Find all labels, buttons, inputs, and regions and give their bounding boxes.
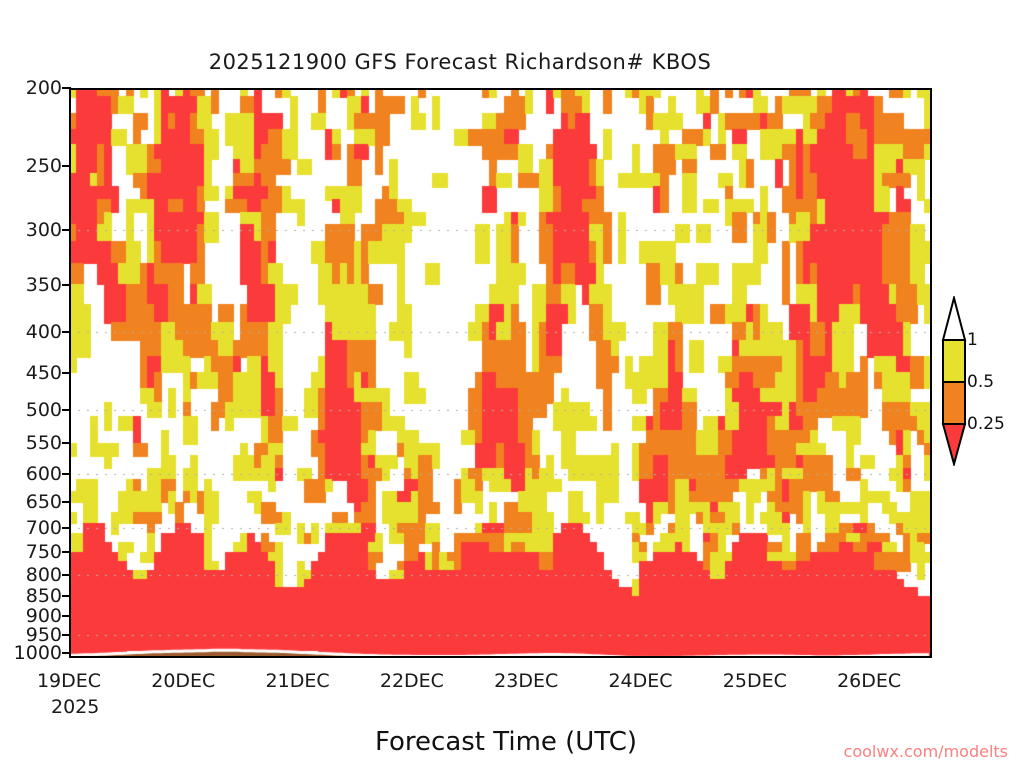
x-axis-labels: 19DEC20DEC21DEC22DEC23DEC24DEC25DEC26DEC… xyxy=(69,664,932,724)
y-axis-label: 600 xyxy=(26,463,62,485)
y-axis-label: 850 xyxy=(26,585,62,607)
colorbar-label-0-5: 0.5 xyxy=(967,372,994,392)
y-axis-label: 350 xyxy=(26,274,62,296)
colorbar-label-0-25: 0.25 xyxy=(967,414,1005,434)
y-axis-label: 500 xyxy=(26,399,62,421)
y-axis-label: 700 xyxy=(26,517,62,539)
plot-area xyxy=(69,88,932,658)
colorbar-arrow-bottom xyxy=(943,424,965,464)
x-axis-year-label: 2025 xyxy=(51,696,99,718)
x-axis-title-text: Forecast Time (UTC) xyxy=(375,727,637,757)
chart-page: 2025121900 GFS Forecast Richardson# KBOS… xyxy=(0,0,1024,768)
colorbar-label-1: 1 xyxy=(967,330,978,350)
colorbar-swatches xyxy=(940,296,970,466)
colorbar: 1 0.5 0.25 xyxy=(940,296,1024,466)
y-axis-label: 300 xyxy=(26,219,62,241)
credit-watermark: coolwx.com/modelts xyxy=(844,742,1008,761)
x-axis-label: 21DEC xyxy=(266,670,330,692)
heatmap-canvas xyxy=(69,88,932,658)
page-title: 2025121900 GFS Forecast Richardson# KBOS xyxy=(0,50,1024,74)
y-axis-label: 550 xyxy=(26,432,62,454)
colorbar-arrow-top xyxy=(943,298,965,340)
y-axis-label: 750 xyxy=(26,541,62,563)
y-axis-label: 800 xyxy=(26,564,62,586)
x-axis-label: 26DEC xyxy=(837,670,901,692)
colorbar-band-yellow xyxy=(943,340,965,382)
colorbar-band-orange xyxy=(943,382,965,424)
y-axis-label: 450 xyxy=(26,362,62,384)
y-axis-labels: 2002503003504004505005506006507007508008… xyxy=(0,88,62,658)
y-axis-label: 250 xyxy=(26,155,62,177)
x-axis-label: 20DEC xyxy=(151,670,215,692)
y-axis-label: 650 xyxy=(26,491,62,513)
x-axis-label: 23DEC xyxy=(494,670,558,692)
y-axis-label: 1000 xyxy=(14,642,62,664)
y-axis-label: 200 xyxy=(26,77,62,99)
page-title-text: 2025121900 GFS Forecast Richardson# KBOS xyxy=(209,50,712,74)
x-axis-label: 25DEC xyxy=(723,670,787,692)
x-axis-label: 24DEC xyxy=(608,670,672,692)
y-axis-label: 400 xyxy=(26,321,62,343)
x-axis-label: 22DEC xyxy=(380,670,444,692)
x-axis-label: 19DEC xyxy=(37,670,101,692)
